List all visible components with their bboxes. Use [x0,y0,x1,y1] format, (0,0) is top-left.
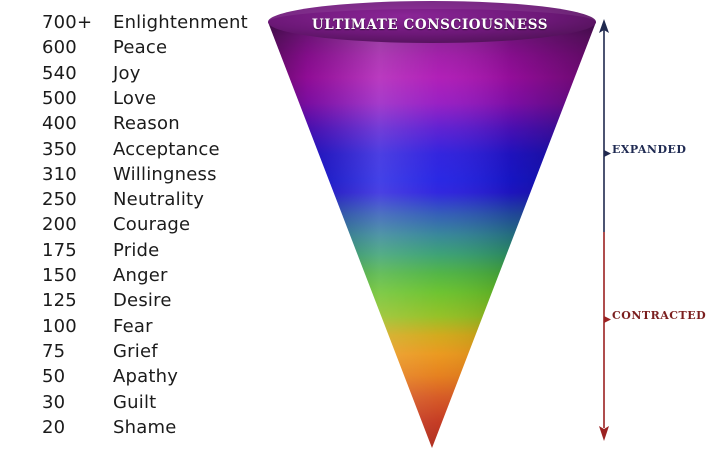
scale-level-value: 540 [42,61,77,86]
scale-level-value: 200 [42,212,77,237]
scale-row: 540Joy [0,61,268,86]
scale-row: 350Acceptance [0,137,268,162]
scale-level-value: 310 [42,162,77,187]
scale-level-value: 175 [42,238,77,263]
scale-level-label: Peace [113,35,167,60]
consciousness-scale-list: 700+Enlightenment600Peace540Joy500Love40… [0,0,268,455]
scale-level-label: Anger [113,263,168,288]
scale-level-value: 75 [42,339,65,364]
consciousness-cone: ULTIMATE CONSCIOUSNESS [262,0,598,455]
scale-row: 175Pride [0,238,268,263]
scale-level-label: Pride [113,238,159,263]
scale-level-label: Courage [113,212,190,237]
scale-level-value: 30 [42,390,65,415]
scale-level-label: Acceptance [113,137,220,162]
scale-row: 20Shame [0,415,268,440]
cone-graphic [262,0,598,455]
contracted-arrow-icon [599,232,609,441]
scale-level-value: 600 [42,35,77,60]
scale-level-label: Shame [113,415,176,440]
axis-label-contracted: CONTRACTED [612,309,706,322]
polarity-axis: EXPANDED CONTRACTED [596,0,720,455]
scale-row: 310Willingness [0,162,268,187]
scale-row: 250Neutrality [0,187,268,212]
scale-level-value: 100 [42,314,77,339]
scale-level-label: Fear [113,314,153,339]
scale-level-value: 250 [42,187,77,212]
scale-level-value: 500 [42,86,77,111]
scale-row: 75Grief [0,339,268,364]
contracted-tick-icon [604,316,611,323]
scale-level-value: 20 [42,415,65,440]
scale-level-value: 700+ [42,10,92,35]
expanded-tick-icon [604,150,611,157]
consciousness-map: 700+Enlightenment600Peace540Joy500Love40… [0,0,720,455]
axis-graphic [596,0,720,455]
scale-level-value: 400 [42,111,77,136]
scale-level-label: Guilt [113,390,156,415]
scale-level-label: Enlightenment [113,10,248,35]
scale-level-label: Joy [113,61,141,86]
scale-level-value: 125 [42,288,77,313]
scale-row: 500Love [0,86,268,111]
scale-level-label: Willingness [113,162,217,187]
scale-level-label: Apathy [113,364,178,389]
scale-row: 700+Enlightenment [0,10,268,35]
scale-level-value: 50 [42,364,65,389]
scale-level-label: Love [113,86,156,111]
scale-level-value: 150 [42,263,77,288]
scale-row: 600Peace [0,35,268,60]
scale-row: 200Courage [0,212,268,237]
cone-body [268,22,596,448]
scale-row: 400Reason [0,111,268,136]
scale-row: 150Anger [0,263,268,288]
scale-level-value: 350 [42,137,77,162]
scale-level-label: Desire [113,288,172,313]
scale-row: 100Fear [0,314,268,339]
scale-row: 50Apathy [0,364,268,389]
scale-level-label: Grief [113,339,158,364]
cone-top-ellipse [268,1,596,43]
scale-row: 30Guilt [0,390,268,415]
scale-row: 125Desire [0,288,268,313]
expanded-arrow-icon [599,19,609,232]
scale-level-label: Reason [113,111,180,136]
axis-label-expanded: EXPANDED [612,143,686,156]
scale-level-label: Neutrality [113,187,204,212]
